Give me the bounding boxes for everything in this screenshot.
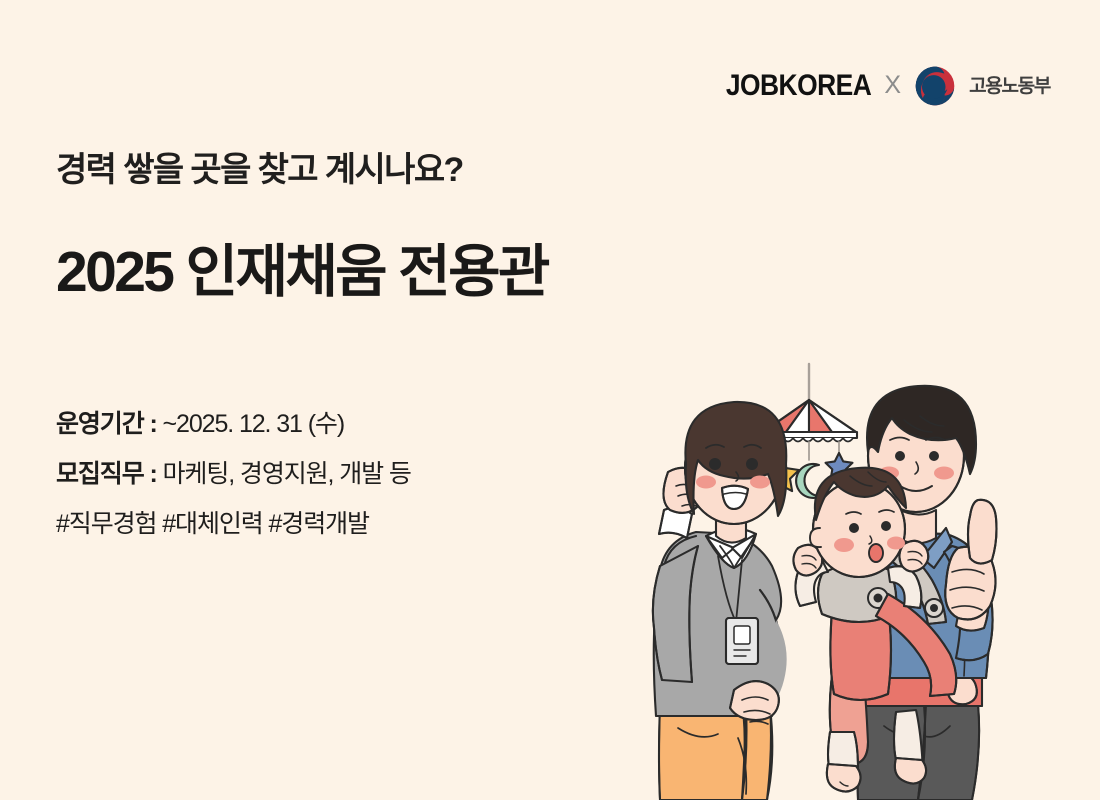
detail-value-jobs: 마케팅, 경영지원, 개발 등 [163,460,411,488]
partner-logo-row: JOBKOREA X 고용노동부 [706,64,1050,108]
detail-label-period: 운영기간 : [56,410,157,438]
logo-separator-x: X [884,73,901,98]
taegeuk-icon [914,65,956,107]
detail-label-jobs: 모집직무 : [56,460,157,488]
detail-value-period: ~2025. 12. 31 (수) [163,410,345,438]
hashtag-line: #직무경험 #대체인력 #경력개발 [56,512,411,537]
ministry-of-employment-and-labor-label: 고용노동부 [969,77,1050,96]
woman-figure [653,402,787,800]
detail-list: 운영기간 : ~2025. 12. 31 (수) 모집직무 : 마케팅, 경영지… [56,412,411,537]
jobkorea-wordmark: JOBKOREA [726,71,871,101]
promo-banner: JOBKOREA X 고용노동부 경력 쌓을 곳 [0,0,1100,800]
eyebrow-heading: 경력 쌓을 곳을 찾고 계시나요? [56,150,463,191]
detail-row-period: 운영기간 : ~2025. 12. 31 (수) [56,412,411,437]
family-illustration [600,360,1100,800]
detail-row-jobs: 모집직무 : 마케팅, 경영지원, 개발 등 [56,462,411,487]
page-title: 2025 인재채움 전용관 [56,240,548,306]
